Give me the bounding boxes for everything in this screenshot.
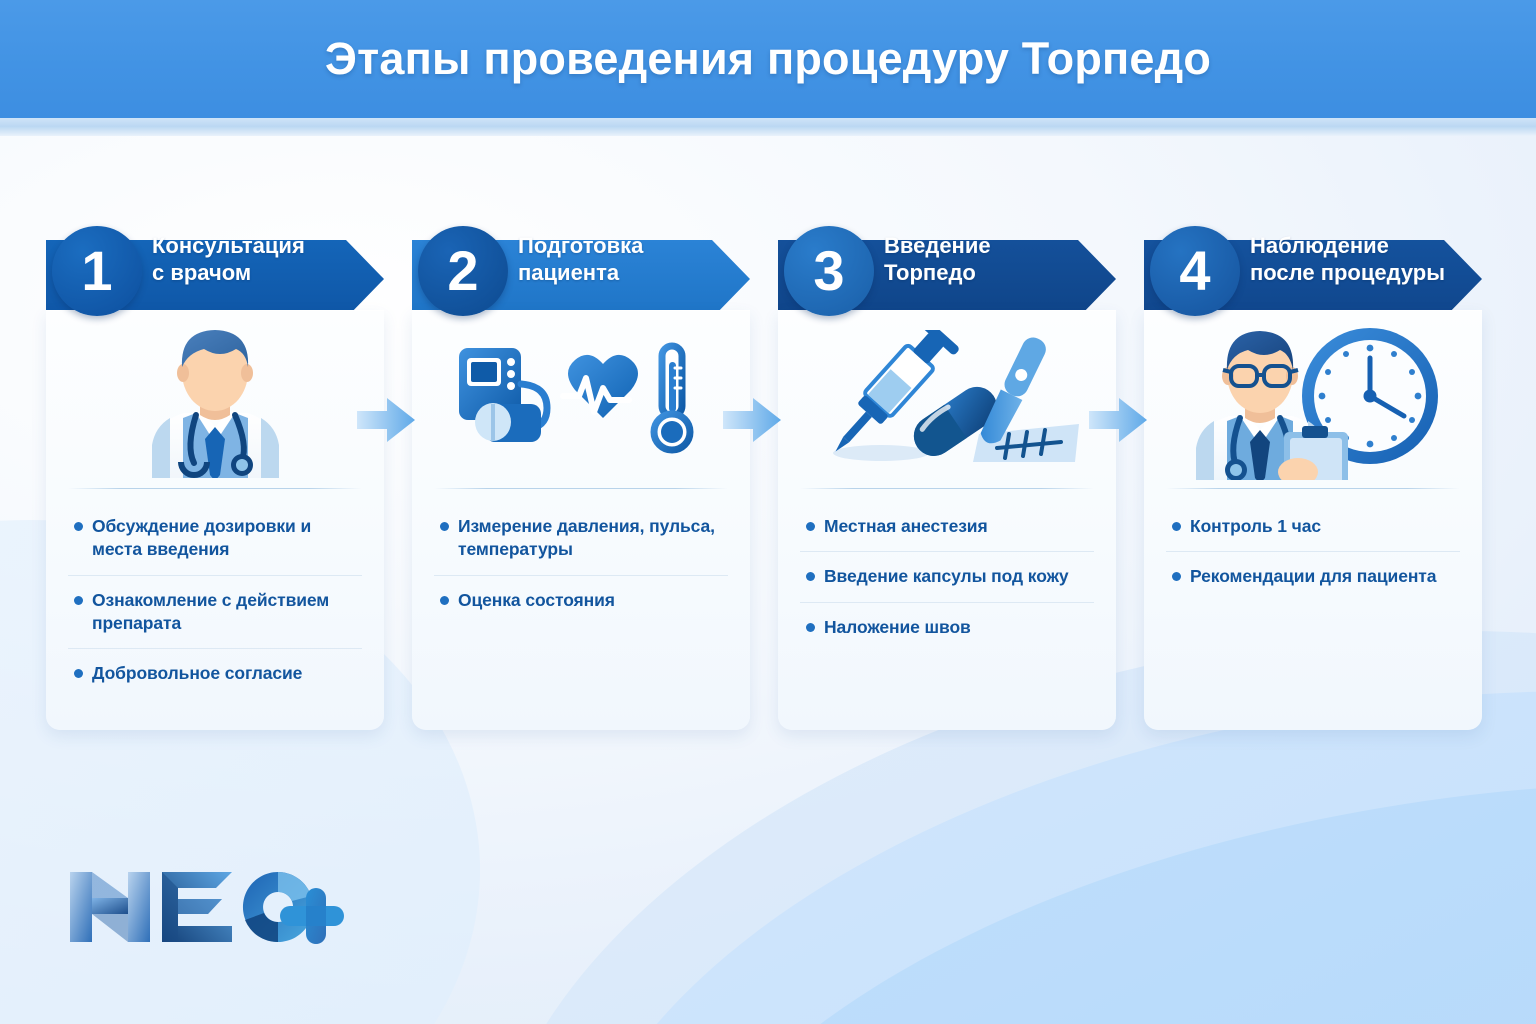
header-accent-strip-secondary bbox=[0, 126, 1536, 136]
bullet-text: Обсуждение дозировки и места введения bbox=[92, 515, 360, 562]
bullet-text: Ознакомление с действием препарата bbox=[92, 589, 360, 636]
step-3-title: Введение Торпедо bbox=[884, 232, 1116, 286]
bullet-text: Оценка состояния bbox=[458, 589, 615, 612]
list-item: Контроль 1 час bbox=[1166, 502, 1460, 552]
step-1-number-badge: 1 bbox=[52, 226, 142, 316]
list-item: Рекомендации для пациента bbox=[1166, 552, 1460, 601]
list-item: Добровольное согласие bbox=[68, 649, 362, 698]
step-4-bullet-list: Контроль 1 час Рекомендации для пациента bbox=[1166, 502, 1460, 602]
bullet-text: Измерение давления, пульса, температуры bbox=[458, 515, 726, 562]
page-header: Этапы проведения процедуру Торпедо bbox=[0, 0, 1536, 118]
background-swoosh-3 bbox=[599, 698, 1536, 1024]
bullet-dot-icon bbox=[1172, 522, 1181, 531]
bullet-dot-icon bbox=[806, 623, 815, 632]
step-card-4[interactable]: 4 Наблюдение после процедуры bbox=[1144, 232, 1482, 732]
list-item: Введение капсулы под кожу bbox=[800, 552, 1094, 602]
arrow-step2-to-step3 bbox=[723, 396, 781, 444]
step-1-bullet-list: Обсуждение дозировки и места введения Оз… bbox=[68, 502, 362, 698]
list-item: Наложение швов bbox=[800, 603, 1094, 652]
step-1-divider bbox=[68, 488, 362, 489]
step-3-number-badge: 3 bbox=[784, 226, 874, 316]
header-accent-strip bbox=[0, 118, 1536, 126]
bullet-text: Рекомендации для пациента bbox=[1190, 565, 1436, 588]
step-4-number-badge: 4 bbox=[1150, 226, 1240, 316]
list-item: Оценка состояния bbox=[434, 576, 728, 625]
arrow-step3-to-step4 bbox=[1089, 396, 1147, 444]
step-2-bullet-list: Измерение давления, пульса, температуры … bbox=[434, 502, 728, 625]
brand-logo[interactable]: НЕО+ bbox=[66, 866, 344, 953]
bullet-text: Местная анестезия bbox=[824, 515, 988, 538]
bullet-dot-icon bbox=[806, 572, 815, 581]
step-1-title: Консультация с врачом bbox=[152, 232, 384, 286]
page-title: Этапы проведения процедуру Торпедо bbox=[325, 33, 1211, 85]
arrow-step1-to-step2 bbox=[357, 396, 415, 444]
step-4-title: Наблюдение после процедуры bbox=[1250, 232, 1482, 286]
bullet-text: Наложение швов bbox=[824, 616, 971, 639]
vitals-monitor-icon bbox=[412, 310, 750, 490]
logo-letter-n bbox=[70, 872, 150, 942]
step-3-bullet-list: Местная анестезия Введение капсулы под к… bbox=[800, 502, 1094, 652]
step-3-divider bbox=[800, 488, 1094, 489]
list-item: Обсуждение дозировки и места введения bbox=[68, 502, 362, 576]
step-card-1[interactable]: 1 Консультация с врачом bbox=[46, 232, 384, 732]
step-card-3[interactable]: 3 Введение Торпедо bbox=[778, 232, 1116, 732]
step-2-title: Подготовка пациента bbox=[518, 232, 750, 286]
bullet-dot-icon bbox=[74, 596, 83, 605]
step-4-body: Контроль 1 час Рекомендации для пациента bbox=[1144, 310, 1482, 730]
list-item: Местная анестезия bbox=[800, 502, 1094, 552]
bullet-dot-icon bbox=[74, 669, 83, 678]
bullet-text: Добровольное согласие bbox=[92, 662, 302, 685]
step-2-body: Измерение давления, пульса, температуры … bbox=[412, 310, 750, 730]
bullet-dot-icon bbox=[806, 522, 815, 531]
bullet-dot-icon bbox=[1172, 572, 1181, 581]
list-item: Измерение давления, пульса, температуры bbox=[434, 502, 728, 576]
step-4-divider bbox=[1166, 488, 1460, 489]
syringe-capsule-scalpel-icon bbox=[778, 310, 1116, 490]
bullet-dot-icon bbox=[74, 522, 83, 531]
step-card-2[interactable]: 2 Подготовка пациента bbox=[412, 232, 750, 732]
doctor-clock-icon bbox=[1144, 310, 1482, 490]
step-3-body: Местная анестезия Введение капсулы под к… bbox=[778, 310, 1116, 730]
step-2-number-badge: 2 bbox=[418, 226, 508, 316]
logo-letter-e bbox=[162, 872, 232, 942]
bullet-dot-icon bbox=[440, 596, 449, 605]
infographic-canvas: Этапы проведения процедуру Торпедо 1 Кон… bbox=[0, 0, 1536, 1024]
list-item: Ознакомление с действием препарата bbox=[68, 576, 362, 650]
step-1-body: Обсуждение дозировки и места введения Оз… bbox=[46, 310, 384, 730]
doctor-avatar-icon bbox=[46, 310, 384, 490]
bullet-text: Введение капсулы под кожу bbox=[824, 565, 1069, 588]
steps-row: 1 Консультация с врачом bbox=[46, 232, 1490, 732]
bullet-dot-icon bbox=[440, 522, 449, 531]
bullet-text: Контроль 1 час bbox=[1190, 515, 1321, 538]
step-2-divider bbox=[434, 488, 728, 489]
